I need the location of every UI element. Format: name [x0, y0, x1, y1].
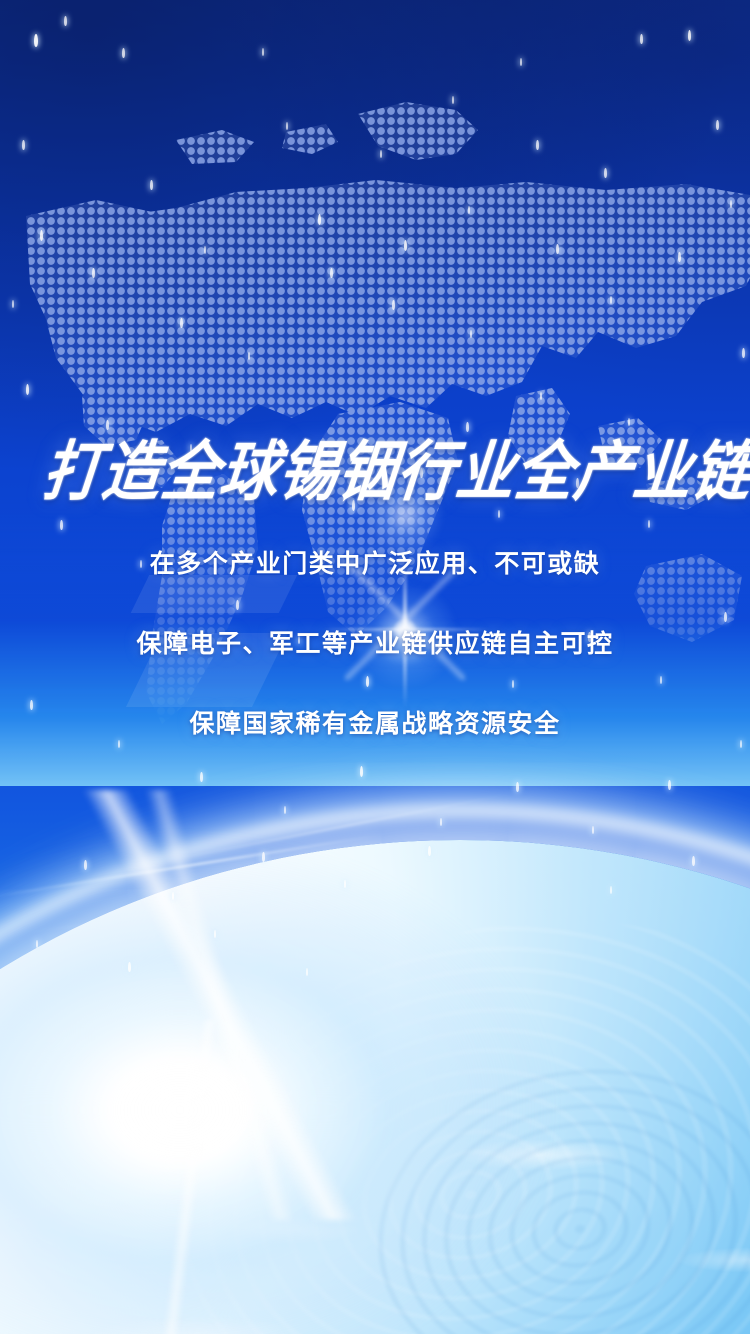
sparkle-dot: [200, 772, 203, 782]
sparkle-dot: [262, 852, 265, 862]
sparkle-dot: [540, 392, 542, 400]
sparkle-dot: [262, 48, 264, 56]
sparkle-dot: [92, 268, 95, 278]
sparkle-dot: [128, 962, 131, 972]
sparkle-dot: [12, 300, 14, 308]
sparkle-dot: [640, 34, 643, 44]
sparkle-dot: [330, 268, 333, 278]
sparkle-dot: [284, 806, 286, 814]
sparkle-dot: [248, 352, 250, 360]
sparkle-dot: [150, 180, 153, 190]
sparkle-dot: [520, 58, 522, 66]
sparkle-dot: [26, 384, 29, 395]
sparkle-dot: [468, 206, 470, 214]
sparkle-dot: [692, 856, 695, 866]
sparkle-dot: [610, 296, 612, 304]
sparkle-dot: [440, 818, 442, 826]
sparkle-dot: [592, 826, 594, 834]
sparkle-dot: [344, 880, 346, 888]
sparkle-dot: [360, 766, 363, 777]
sparkle-dot: [536, 140, 539, 150]
sparkle-dot: [204, 246, 206, 254]
sparkle-dot: [688, 30, 691, 41]
sparkle-dot: [516, 782, 519, 792]
sparkle-dot: [452, 96, 454, 104]
sparkle-dot: [730, 200, 732, 208]
sparkle-dot: [742, 348, 745, 358]
poster-canvas: 打造全球锡铟行业全产业链链主 在多个产业门类中广泛应用、不可或缺 保障电子、军工…: [0, 0, 750, 1334]
subtitle-line-1: 在多个产业门类中广泛应用、不可或缺: [0, 552, 750, 577]
sparkle-dot: [740, 740, 742, 748]
sparkle-dot: [306, 968, 308, 976]
sparkle-dot: [428, 846, 431, 856]
page-title: 打造全球锡铟行业全产业链链主: [39, 419, 719, 513]
sparkle-dot: [34, 34, 38, 47]
sparkle-dot: [678, 252, 681, 262]
sparkle-dot: [556, 244, 559, 254]
sparkle-dot: [64, 16, 67, 26]
sparkle-dot: [84, 860, 87, 870]
sparkle-dot: [668, 780, 671, 790]
sparkle-dot: [648, 520, 650, 528]
subtitle-line-3: 保障国家稀有金属战略资源安全: [0, 712, 750, 737]
sparkle-dot: [392, 300, 395, 310]
sparkle-dot: [40, 230, 43, 241]
subtitle-line-2: 保障电子、军工等产业链供应链自主可控: [0, 632, 750, 657]
sparkle-dot: [318, 214, 321, 225]
sparkle-dot: [22, 140, 25, 150]
sparkle-dot: [610, 886, 612, 894]
sparkle-dot: [716, 120, 719, 130]
sparkle-dot: [172, 892, 174, 900]
subtitle-block: 在多个产业门类中广泛应用、不可或缺 保障电子、军工等产业链供应链自主可控 保障国…: [0, 552, 750, 737]
sparkle-dot: [404, 240, 407, 251]
sparkle-dot: [214, 930, 216, 938]
sparkle-dot: [180, 318, 183, 328]
sparkle-dot: [36, 940, 38, 948]
sparkle-dot: [118, 740, 120, 748]
sparkle-dot: [470, 330, 472, 338]
sparkle-dot: [122, 48, 125, 58]
sparkle-dot: [286, 122, 288, 130]
sparkle-dot: [60, 520, 63, 530]
sparkle-dot: [380, 150, 382, 158]
sparkle-dot: [604, 168, 607, 178]
